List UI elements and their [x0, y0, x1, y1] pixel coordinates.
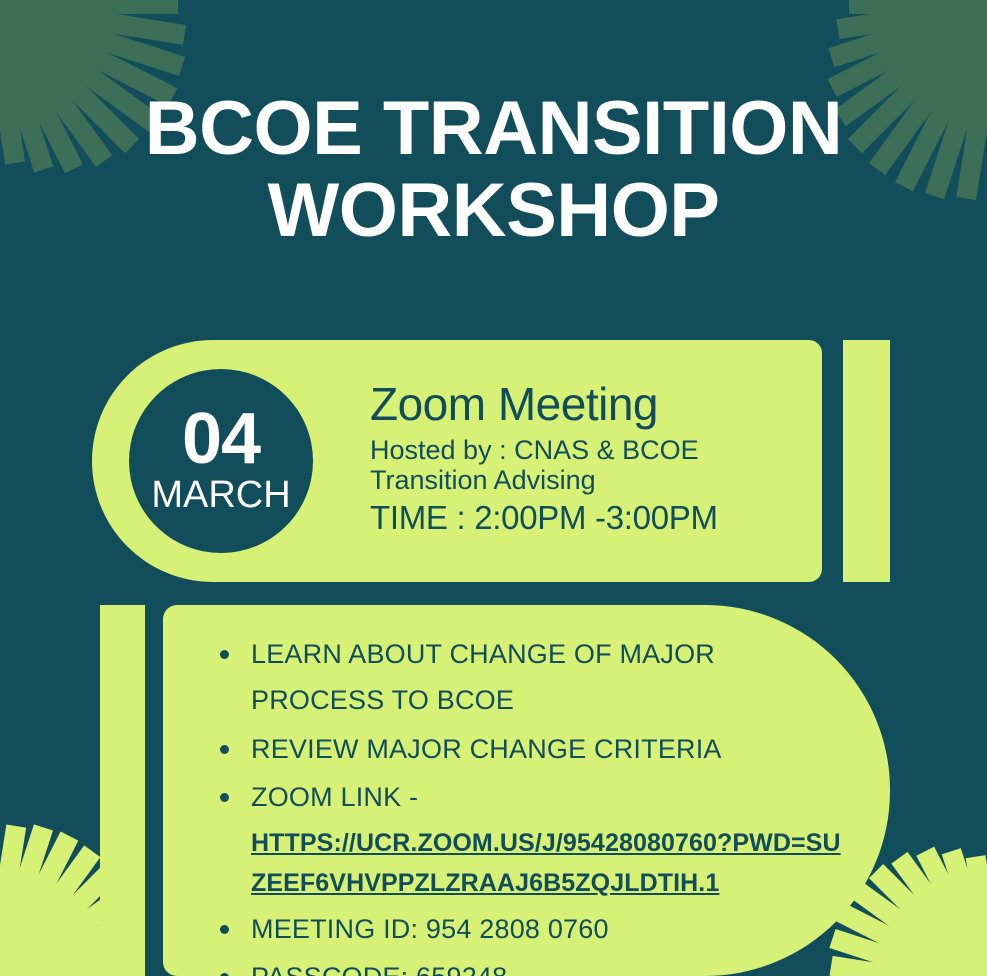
details-bullet-list: LEARN ABOUT CHANGE OF MAJOR PROCESS TO B… [163, 605, 890, 976]
meeting-time: TIME : 2:00PM -3:00PM [370, 500, 810, 536]
sunburst-ray [942, 848, 987, 976]
list-item: MEETING ID: 954 2808 0760 [218, 906, 850, 952]
sunburst-ray [0, 845, 101, 976]
date-day: 04 [182, 405, 260, 473]
sunburst-ray [836, 0, 987, 39]
poster-title-line-1: BCOE TRANSITION [145, 86, 843, 171]
sunburst-ray [0, 832, 78, 976]
sunburst-ray [0, 825, 53, 976]
sunburst-ray [0, 0, 178, 14]
accent-bar-right [843, 340, 890, 582]
sunburst-ray [966, 855, 987, 976]
sunburst-ray [0, 825, 26, 976]
bullet-text: ZOOM LINK - [251, 782, 418, 812]
bullet-text: LEARN ABOUT CHANGE OF MAJOR PROCESS TO B… [251, 639, 715, 715]
event-poster: BCOE TRANSITION WORKSHOP 04 MARCH Zoom M… [0, 0, 987, 976]
sunburst-ray [0, 0, 185, 76]
event-date-card: 04 MARCH Zoom Meeting Hosted by : CNAS &… [92, 340, 822, 582]
list-item: REVIEW MAJOR CHANGE CRITERIA [218, 726, 850, 772]
bullet-text: MEETING ID: 954 2808 0760 [251, 914, 609, 944]
sunburst-ray [916, 847, 987, 976]
date-badge: 04 MARCH [129, 369, 313, 553]
zoom-meeting-link[interactable]: HTTPS://UCR.ZOOM.US/J/95428080760?PWD=SU… [251, 823, 850, 904]
poster-title: BCOE TRANSITION WORKSHOP [0, 88, 987, 252]
event-details-card: LEARN ABOUT CHANGE OF MAJOR PROCESS TO B… [163, 605, 890, 976]
sunburst-ray [829, 0, 987, 67]
list-item: LEARN ABOUT CHANGE OF MAJOR PROCESS TO B… [218, 631, 850, 724]
sunburst-ray [0, 0, 186, 45]
poster-title-line-2: WORKSHOP [0, 170, 987, 252]
meeting-host: Hosted by : CNAS & BCOE Transition Advis… [370, 435, 810, 495]
sunburst-ray [828, 0, 987, 97]
bullet-text: REVIEW MAJOR CHANGE CRITERIA [251, 734, 722, 764]
meeting-title: Zoom Meeting [370, 380, 810, 430]
list-item: ZOOM LINK - HTTPS://UCR.ZOOM.US/J/954280… [218, 774, 850, 903]
meeting-info: Zoom Meeting Hosted by : CNAS & BCOE Tra… [370, 380, 810, 536]
list-item: PASSCODE: 659248 [218, 954, 850, 976]
bullet-text: PASSCODE: 659248 [251, 962, 507, 976]
date-month: MARCH [151, 475, 290, 517]
sunburst-ray [849, 0, 987, 14]
sunburst-ray [892, 852, 987, 976]
accent-bar-left [100, 605, 145, 976]
